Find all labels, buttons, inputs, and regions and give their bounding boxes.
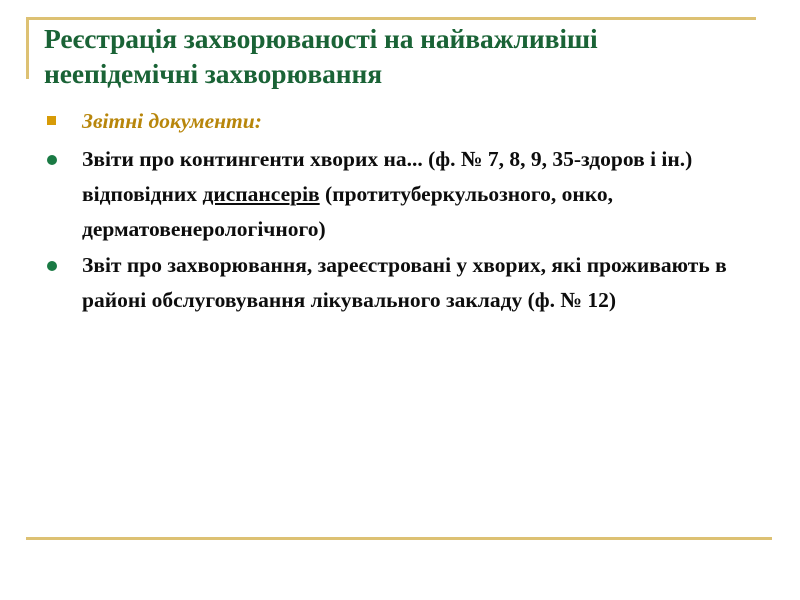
list-item-label: Звітні документи: — [82, 109, 262, 133]
list-item-label: Звіти про контингенти хворих на... (ф. №… — [82, 142, 776, 247]
slide-canvas: Реєстрація захворюваності на найважливіш… — [0, 0, 800, 600]
list-item-label: Звіт про захворювання, зареєстровані у х… — [82, 248, 776, 318]
list-item-level2: Звіт про захворювання, зареєстровані у х… — [36, 248, 776, 318]
bottom-accent-rule — [26, 537, 772, 540]
list-item-level2: Звіти про контингенти хворих на... (ф. №… — [36, 142, 776, 247]
round-bullet-icon — [47, 261, 57, 271]
list-item-level1: Звітні документи: — [36, 106, 776, 137]
slide-title: Реєстрація захворюваності на найважливіш… — [44, 22, 744, 91]
round-bullet-icon — [47, 155, 57, 165]
list-item-underlined-term: диспансерів — [202, 182, 319, 206]
square-bullet-icon — [47, 116, 56, 125]
left-accent-rule — [26, 17, 29, 79]
top-accent-rule — [26, 17, 756, 20]
slide-body-list: Звітні документи: Звіти про контингенти … — [36, 106, 776, 319]
